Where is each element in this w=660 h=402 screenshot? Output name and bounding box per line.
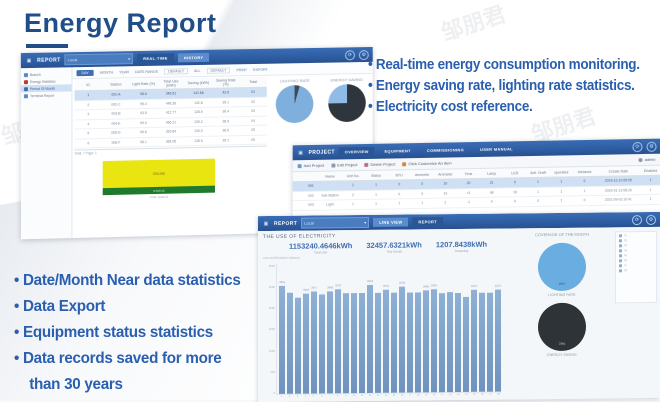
bar[interactable]: 2416 xyxy=(303,294,309,394)
cell: 02 xyxy=(239,97,266,107)
cell: 6 xyxy=(74,138,102,148)
tab-real-time[interactable]: REAL-TIME xyxy=(137,53,174,63)
bar[interactable] xyxy=(359,293,365,393)
sidebar-item-label: Terminal Report xyxy=(30,93,54,97)
cell: 364.05 xyxy=(157,136,184,146)
cell: 1 xyxy=(365,180,388,190)
delete-project-button[interactable]: Delete Project xyxy=(364,161,395,167)
bar[interactable] xyxy=(375,293,381,393)
cell: 1 xyxy=(526,177,549,187)
cell: 006-F xyxy=(102,137,130,147)
cell: 20 xyxy=(457,178,480,188)
page-title: Energy Report xyxy=(24,8,217,39)
cell: 05 xyxy=(239,125,266,135)
bar[interactable]: 2501 xyxy=(383,289,389,392)
pie-chart xyxy=(328,84,366,123)
cell: 132.8 xyxy=(185,98,212,108)
filter-select-default[interactable]: DEFAULT xyxy=(164,68,188,74)
cell: 0 xyxy=(411,179,434,189)
cell: 99.0 xyxy=(130,118,158,128)
x-tick-label: 12 xyxy=(367,394,374,397)
kpi-row: 1153240.4646kWh Total Use 32457.6321kWh … xyxy=(289,240,502,255)
bar-value-label: 2618 xyxy=(367,280,374,283)
pie-value-label: 96% xyxy=(559,282,565,286)
tab-equipment[interactable]: EQUIPMENT xyxy=(379,146,417,156)
x-tick-label: 16 xyxy=(399,394,406,397)
refresh-icon[interactable]: ⟳ xyxy=(632,215,642,225)
cell: 21 xyxy=(480,178,503,188)
cell: 0 xyxy=(526,196,549,206)
col-saving: Saving (kWh) xyxy=(185,78,212,89)
kpi-value: 1153240.4646kWh xyxy=(289,241,352,251)
col-check xyxy=(293,172,304,182)
legend-label: 02 xyxy=(624,239,627,242)
x-tick-label: 28 xyxy=(495,393,502,396)
col-status: Status xyxy=(365,171,388,181)
bar[interactable] xyxy=(479,293,485,392)
bar-value-label: 2558 xyxy=(399,282,406,285)
legend-swatch xyxy=(619,264,622,267)
report-icon xyxy=(24,87,28,91)
edit-project-button[interactable]: Edit Project xyxy=(331,162,357,167)
user-icon xyxy=(639,158,643,162)
col-ammeter: Ammeter xyxy=(411,170,434,180)
cell: 1 xyxy=(640,175,660,185)
station-select-value: Local xyxy=(68,57,78,62)
x-tick-label: 10 xyxy=(350,394,357,397)
cell: 001-A xyxy=(102,90,130,100)
right-panel-title: COVERAGE OF THE MONTH xyxy=(535,232,589,238)
x-tick-label: 19 xyxy=(423,393,430,396)
col-led: LED xyxy=(503,168,526,178)
col-id: ID xyxy=(74,80,102,91)
filter-select-default-2[interactable]: DEFAULT xyxy=(207,67,231,73)
app-icon: ▣ xyxy=(297,149,305,157)
filter-tab-month[interactable]: MONTH xyxy=(100,70,113,74)
legend-label: 04 xyxy=(624,249,627,252)
cell: 96.8 xyxy=(130,127,158,137)
bar-value-label: 2416 xyxy=(303,289,310,292)
pencil-icon xyxy=(331,163,335,167)
cell: 18 xyxy=(503,187,526,197)
col-time: Time xyxy=(457,169,480,179)
sidebar-item-label: Branch xyxy=(30,72,41,76)
cell: 002 xyxy=(304,191,319,201)
app-icon: ▣ xyxy=(25,56,33,64)
cell: 1 xyxy=(550,177,573,187)
legend-item[interactable]: 05 xyxy=(619,254,653,257)
toolbar-label: Edit Project xyxy=(337,162,357,167)
status-block: ONLINE STATUS Total: stations xyxy=(103,159,215,201)
x-tick-label: 20 xyxy=(431,393,438,396)
cell: 3 xyxy=(74,109,102,119)
cell: 5 xyxy=(74,128,102,138)
legend-label: 07 xyxy=(624,264,627,267)
legend-swatch xyxy=(619,269,622,272)
tab-commissioning[interactable]: COMMISSIONING xyxy=(421,145,470,155)
cell: 1 xyxy=(388,199,411,209)
cell: Light xyxy=(319,200,342,210)
bar[interactable] xyxy=(295,297,301,393)
app-icon: ▣ xyxy=(262,219,270,227)
kpi-label: This Month xyxy=(366,249,421,254)
col-total-use: Total Use (kWh) xyxy=(157,78,184,89)
bar[interactable] xyxy=(319,294,325,393)
bar[interactable]: 2618 xyxy=(367,285,373,393)
x-tick-label: 15 xyxy=(391,394,398,397)
y-tick-label: 1500 xyxy=(263,327,275,331)
col-index xyxy=(304,172,319,182)
book-icon xyxy=(402,162,406,166)
cell: 0 xyxy=(480,197,503,207)
cell: 1 xyxy=(573,186,596,196)
bar-value-label: 2470 xyxy=(494,284,501,287)
cell: 38.5 xyxy=(212,116,239,126)
cell xyxy=(293,200,304,210)
bullet-list-right: • Real-time energy consumption monitorin… xyxy=(368,55,660,118)
bar-value-label: 2523 xyxy=(335,284,342,287)
x-tick-label: 22 xyxy=(447,393,454,396)
bar-value-label: 2492 xyxy=(431,284,438,287)
kpi-value: 32457.6321kWh xyxy=(366,240,421,250)
bar[interactable]: 2473 xyxy=(471,290,477,392)
legend-swatch xyxy=(619,244,622,247)
x-tick-label: 14 xyxy=(383,394,390,397)
col-actl-draft: Actl. Draft xyxy=(526,168,549,178)
bar[interactable] xyxy=(455,293,461,392)
x-tick-label: 23 xyxy=(455,393,462,396)
sidebar: Branch Energy Statistics Period Of Month… xyxy=(21,67,73,239)
x-tick-label: 27 xyxy=(487,393,494,396)
y-axis: 300025002000150010005000 xyxy=(263,264,276,395)
bar[interactable]: 2523 xyxy=(335,289,341,393)
col-lamp: Lamp xyxy=(480,169,503,179)
refresh-icon[interactable]: ⟳ xyxy=(345,50,355,60)
pie-chart xyxy=(276,85,314,124)
cell: 003 xyxy=(304,200,319,210)
col-enabled: Enabled xyxy=(640,166,660,176)
legend-item[interactable]: 01 xyxy=(619,234,653,237)
cell: 1 xyxy=(365,190,388,200)
col-btu: BTU xyxy=(388,170,411,180)
filter-tab-all[interactable]: ALL xyxy=(194,68,200,72)
bar[interactable] xyxy=(407,292,413,393)
tab-overview[interactable]: OVERVIEW xyxy=(339,147,375,157)
tab-report[interactable]: REPORT xyxy=(412,217,442,226)
print-button[interactable]: PRINT xyxy=(236,68,247,72)
bullet-item: • Data Export xyxy=(14,294,241,320)
cell: 36.5 xyxy=(212,126,239,136)
refresh-icon[interactable]: ⟳ xyxy=(632,141,642,151)
cell xyxy=(319,181,342,191)
x-tick-label: 2 xyxy=(286,395,293,398)
plus-icon xyxy=(298,164,302,168)
cell: 98.6 xyxy=(130,89,158,99)
bar[interactable]: 2492 xyxy=(431,289,437,392)
cell: 0 xyxy=(411,189,434,199)
cell: 0 xyxy=(388,180,411,190)
bar[interactable] xyxy=(391,292,397,393)
kpi-yesterday: 1207.8438kWh Yesterday xyxy=(436,240,487,254)
bar[interactable] xyxy=(463,297,469,392)
station-select[interactable]: Local ▾ xyxy=(301,217,369,229)
window-title: PROJECT xyxy=(309,149,335,155)
cell: 0 xyxy=(503,197,526,207)
cell: 0 xyxy=(388,189,411,199)
cell: 36.4 xyxy=(212,107,239,117)
cell: -1 xyxy=(457,197,480,207)
report-table[interactable]: ID Station Light Rate (%) Total Use (kWh… xyxy=(74,77,266,149)
x-tick-label: 7 xyxy=(326,394,333,397)
bar[interactable]: 2468 xyxy=(327,291,333,393)
cell: 01 xyxy=(239,87,266,97)
station-select-value: Local xyxy=(304,221,314,226)
bar[interactable] xyxy=(415,292,421,392)
col-saving-rate: Saving Rate (%) xyxy=(212,77,239,88)
cell: 1 xyxy=(365,199,388,209)
x-tick-label: 18 xyxy=(415,393,422,396)
chevron-down-icon: ▾ xyxy=(128,56,130,61)
toolbar-label: Delete Project xyxy=(370,161,395,166)
bar[interactable] xyxy=(287,293,293,394)
legend-item[interactable]: 07 xyxy=(619,264,653,267)
y-tick-label: 2500 xyxy=(263,285,275,289)
x-tick-label: 24 xyxy=(463,393,470,396)
cell: 1 xyxy=(342,180,365,190)
legend-item[interactable]: 06 xyxy=(619,259,653,262)
pie-energy-saving[interactable]: 78% ENERGY SAVING xyxy=(538,303,586,358)
x-tick-label: 5 xyxy=(310,394,317,397)
col-name: Name xyxy=(319,171,342,181)
tab-user-manual[interactable]: USER MANUAL xyxy=(474,144,519,154)
legend-swatch xyxy=(619,234,622,237)
bar[interactable]: 2470 xyxy=(495,289,501,391)
cell: 95.4 xyxy=(130,99,158,109)
col-total: Total xyxy=(239,77,266,88)
pie-lighting-rate[interactable]: 96% LIGHTING RATE xyxy=(538,243,586,298)
y-tick-label: 2000 xyxy=(263,306,275,310)
cell: 39.1 xyxy=(212,97,239,107)
bullet-item: • Data records saved for morethan 30 yea… xyxy=(14,346,241,398)
cell: 002-C xyxy=(102,99,130,109)
bar[interactable] xyxy=(447,292,453,392)
bar-value-label: 2477 xyxy=(311,286,318,289)
legend[interactable]: 0102030405060708 xyxy=(615,231,657,303)
legend-label: 08 xyxy=(624,269,627,272)
y-tick-label: 3000 xyxy=(263,264,275,268)
legend-label: 05 xyxy=(624,254,627,257)
legend-item[interactable]: 08 xyxy=(619,269,653,272)
cell: 0 xyxy=(573,195,596,205)
kpi-label: Total Use xyxy=(289,250,352,255)
cell: 04 xyxy=(239,116,266,126)
y-tick-label: 0 xyxy=(263,391,275,395)
bullet-item: • Energy saving rate, lighting rate stat… xyxy=(368,76,640,97)
cell xyxy=(293,191,304,201)
cell: 2 xyxy=(434,198,457,208)
cell: 141.66 xyxy=(185,88,212,98)
title-underline xyxy=(26,44,68,48)
x-tick-label: 17 xyxy=(407,393,414,396)
bar[interactable]: 2621 xyxy=(279,286,285,394)
cell: 0 xyxy=(573,176,596,186)
kpi-label: Yesterday xyxy=(436,249,487,254)
y-tick-label: 1000 xyxy=(263,349,275,353)
bar-value-label: 2484 xyxy=(423,285,430,288)
bullet-item: • Real-time energy consumption monitorin… xyxy=(368,55,640,76)
settings-icon[interactable]: ⚙ xyxy=(646,214,656,224)
bullet-item-continuation: than 30 years xyxy=(14,372,241,398)
cell: 1 xyxy=(342,199,365,209)
cell: 93.5 xyxy=(130,108,158,118)
add-project-button[interactable]: Add Project xyxy=(298,163,325,168)
cell: 128.5 xyxy=(185,136,212,146)
x-tick-label: 11 xyxy=(358,394,365,397)
col-light-rate: Light Rate (%) xyxy=(130,79,158,90)
col-unit-no: Unit No. xyxy=(342,171,365,181)
filter-tab-year[interactable]: YEAR xyxy=(119,70,129,74)
branch-icon xyxy=(24,73,28,77)
filter-tab-date-range[interactable]: DATE RANGE xyxy=(135,69,158,73)
bullet-item: • Electricity cost reference. xyxy=(368,97,640,118)
bar[interactable] xyxy=(487,292,493,391)
cell: Sub Station xyxy=(319,190,342,200)
export-button[interactable]: EXPORT xyxy=(253,67,268,71)
cell: 1 xyxy=(411,198,434,208)
bar[interactable]: 2558 xyxy=(399,287,405,393)
cell: 393.84 xyxy=(157,127,184,137)
cell: 06 xyxy=(239,135,266,145)
bar-chart[interactable]: 2621241624772468252326182501255824842492… xyxy=(279,268,501,394)
bar-value-label: 2501 xyxy=(383,284,390,287)
legend-item[interactable]: 04 xyxy=(619,249,653,252)
cell: 005-D xyxy=(102,128,130,138)
legend-swatch xyxy=(619,249,622,252)
report-table-wrap: ID Station Light Rate (%) Total Use (kWh… xyxy=(72,76,268,238)
bar[interactable]: 2484 xyxy=(423,290,429,393)
cell: 0 xyxy=(503,178,526,188)
col-station: Station xyxy=(102,79,130,90)
legend-label: 03 xyxy=(624,244,627,247)
cell: 4 xyxy=(74,119,102,129)
toolbar-label: Add Project xyxy=(304,163,325,168)
x-tick-label: 6 xyxy=(318,394,325,397)
x-tick-label: 13 xyxy=(375,394,382,397)
cell: 003-B xyxy=(102,109,130,119)
cell: 2 xyxy=(74,100,102,110)
legend-label: 06 xyxy=(624,259,627,262)
x-tick-label: 3 xyxy=(294,395,301,398)
legend-swatch xyxy=(619,239,622,242)
kpi-value: 1207.8438kWh xyxy=(436,240,487,250)
window-title: REPORT xyxy=(37,57,61,63)
pie-chart: 96% xyxy=(538,243,586,292)
pie-caption: ENERGY SAVING xyxy=(538,353,586,358)
bullet-item: • Date/Month Near data statistics xyxy=(14,268,241,294)
settings-icon[interactable]: ⚙ xyxy=(647,141,657,151)
cell: 48 xyxy=(480,188,503,198)
cell: 10 xyxy=(434,179,457,189)
project-table[interactable]: Name Unit No. Status BTU Ammeter Ammeter… xyxy=(293,166,660,211)
pie-caption: LIGHTING RATE xyxy=(538,293,586,298)
bullet-item: • Equipment status statistics xyxy=(14,320,241,346)
cell: 139.2 xyxy=(185,117,212,127)
sidebar-item-label: Period Of Month xyxy=(30,86,55,90)
trash-icon xyxy=(364,162,368,166)
status-block-online: ONLINE xyxy=(103,159,215,189)
pie-chart: 78% xyxy=(538,303,586,352)
tab-line-view[interactable]: LINE VIEW xyxy=(373,218,408,227)
x-tick-label: 8 xyxy=(334,394,341,397)
window-title: REPORT xyxy=(274,220,297,226)
user-label: admin xyxy=(645,157,656,162)
cell xyxy=(293,182,304,192)
chevron-down-icon: ▾ xyxy=(364,220,366,225)
legend-swatch xyxy=(619,254,622,257)
bar[interactable]: 2477 xyxy=(311,291,317,393)
cell: 2 xyxy=(342,190,365,200)
legend-label: 01 xyxy=(624,234,627,237)
x-tick-label: 25 xyxy=(471,393,478,396)
cell: 128.9 xyxy=(185,107,212,117)
kpi-total-use: 1153240.4646kWh Total Use xyxy=(289,241,352,255)
x-tick-label: 9 xyxy=(342,394,349,397)
window-report-bottom[interactable]: ▣ REPORT Local ▾ LINE VIEW REPORT ⟳ ⚙ TH… xyxy=(258,212,660,402)
x-tick-label: 26 xyxy=(479,393,486,396)
bar-value-label: 2468 xyxy=(327,286,334,289)
cell: 1 xyxy=(74,90,102,100)
cell: 42.6 xyxy=(212,88,239,98)
bar[interactable] xyxy=(351,293,357,393)
col-ammeter-2: Ammeter xyxy=(434,169,457,179)
customize-item-button[interactable]: Click Customize An Item xyxy=(402,160,451,166)
cell: 1 xyxy=(640,185,660,195)
cell: 346.51 xyxy=(157,89,184,99)
cell: 10 xyxy=(434,188,457,198)
cell: 1 xyxy=(550,196,573,206)
cell: 35.1 xyxy=(212,135,239,145)
col-variance: Variance xyxy=(573,167,596,177)
coverage-panel: COVERAGE OF THE MONTH 96% LIGHTING RATE … xyxy=(509,231,615,395)
cell: 412.77 xyxy=(157,108,184,118)
cell: 2021-09-02 10:41 xyxy=(596,195,640,205)
tab-history[interactable]: HISTORY xyxy=(178,53,210,63)
col-operated: operated xyxy=(550,167,573,177)
bar[interactable] xyxy=(439,293,445,392)
terminal-icon xyxy=(24,94,28,98)
bar-value-label: 2621 xyxy=(279,281,286,284)
user-menu[interactable]: admin xyxy=(639,157,656,162)
bullet-list-left: • Date/Month Near data statistics• Data … xyxy=(14,268,252,398)
cell: 004-E xyxy=(102,118,130,128)
toolbar-label: Click Customize An Item xyxy=(408,160,451,166)
cell: 130.0 xyxy=(185,126,212,136)
x-tick-label: 4 xyxy=(302,395,309,398)
legend-item[interactable]: 02 xyxy=(619,239,653,242)
section-title: THE USE OF ELECTRICITY xyxy=(263,232,502,241)
pie-value-label: 78% xyxy=(559,342,565,346)
x-tick-label: 21 xyxy=(439,393,446,396)
filter-tab-day[interactable]: DAY xyxy=(77,69,94,75)
bar[interactable] xyxy=(343,293,349,393)
sidebar-item-terminal-report[interactable]: Terminal Report xyxy=(21,91,72,99)
station-select[interactable]: Local ▾ xyxy=(65,53,133,65)
cell: 1 xyxy=(526,187,549,197)
energy-icon xyxy=(24,80,28,84)
cell: 1 xyxy=(640,194,660,204)
cell: 03 xyxy=(239,106,266,116)
legend-item[interactable]: 03 xyxy=(619,244,653,247)
